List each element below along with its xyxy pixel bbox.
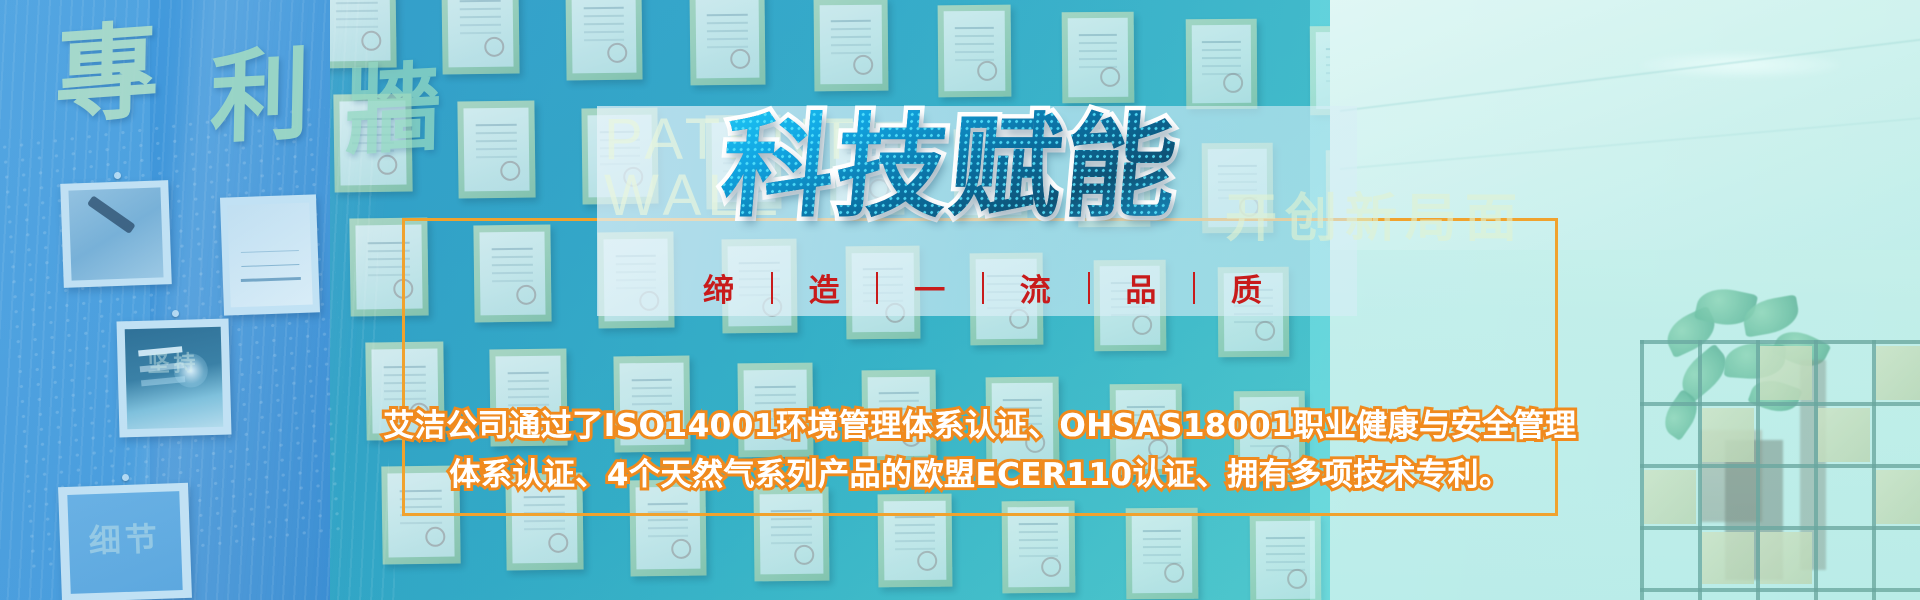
subtitle-separator [771,272,773,304]
body-line: 体系认证、4个天然气系列产品的欧盟ECER110认证、拥有多项技术专利。 [330,451,1630,500]
subtitle-separator [876,272,878,304]
subtitle-row: 缔 造 一 流 品 质 [703,265,1263,310]
slogan-ghost-text: 开创新局面 [1225,176,1525,251]
subtitle-char: 品 [1125,265,1157,310]
subtitle-char: 流 [1020,265,1052,310]
main-title-texture: 科技赋能 [716,104,1183,233]
subtitle-char: 缔 [703,265,735,310]
subtitle-separator [1193,272,1195,304]
subtitle-separator [982,272,984,304]
patent-wall-banner: 專 利 牆 坚持 细节 PATENT WALL 开创新局面 科技赋能 科技赋能 … [0,0,1920,600]
subtitle-char: 一 [914,265,946,310]
body-line: 艾洁公司通过了ISO14001环境管理体系认证、OHSAS18001职业健康与安… [330,402,1630,451]
body-text: 艾洁公司通过了ISO14001环境管理体系认证、OHSAS18001职业健康与安… [330,402,1630,500]
subtitle-separator [1088,272,1090,304]
subtitle-char: 造 [809,265,841,310]
subtitle-char: 质 [1231,265,1263,310]
